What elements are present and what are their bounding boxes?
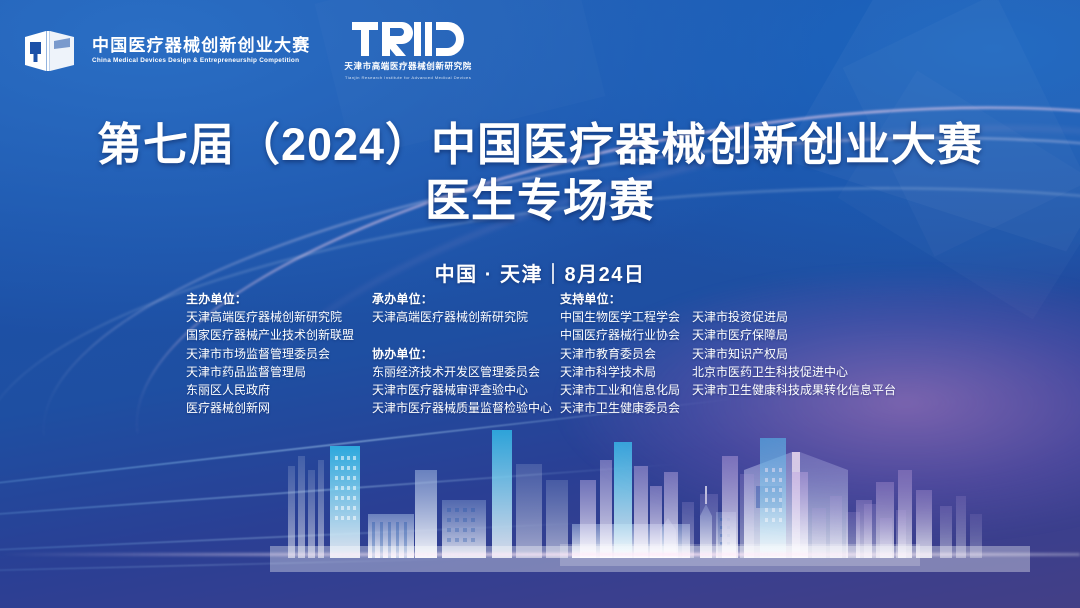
organizer-column: 主办单位： 天津高端医疗器械创新研究院 国家医疗器械产业技术创新联盟 天津市市场…	[186, 290, 372, 417]
organizer-group: 主办单位： 天津高端医疗器械创新研究院 国家医疗器械产业技术创新联盟 天津市市场…	[186, 290, 372, 417]
list-item: 中国医疗器械行业协会	[560, 326, 692, 344]
organizer-column: 天津市投资促进局 天津市医疗保障局 天津市知识产权局 北京市医药卫生科技促进中心…	[692, 290, 896, 417]
event-location-date: 中国 · 天津｜8月24日	[0, 258, 1080, 287]
organizer-list: 主办单位： 天津高端医疗器械创新研究院 国家医疗器械产业技术创新联盟 天津市市场…	[186, 290, 926, 417]
list-item: 天津市工业和信息化局	[560, 381, 692, 399]
list-item: 天津市医疗保障局	[692, 326, 896, 344]
list-item: 中国生物医学工程学会	[560, 308, 692, 326]
organizer-group-title: 支持单位：	[560, 290, 692, 308]
event-date: 8月24日	[564, 264, 645, 286]
open-door-book-mark-icon	[22, 27, 82, 75]
title-line-2: 医生专场赛	[0, 171, 1080, 230]
list-item: 天津市药品监督管理局	[186, 363, 372, 381]
list-item: 东丽区人民政府	[186, 381, 372, 399]
list-item: 天津市知识产权局	[692, 345, 896, 363]
list-item: 天津市投资促进局	[692, 308, 896, 326]
organizer-group-title: 协办单位：	[372, 345, 560, 363]
triid-wordmark-icon	[352, 22, 464, 56]
list-item: 天津市卫生健康委员会	[560, 399, 692, 417]
horizon-line	[0, 553, 1080, 556]
subtitle-separator: ｜	[543, 264, 565, 286]
poster-canvas: 中国医疗器械创新创业大赛 China Medical Devices Desig…	[0, 0, 1080, 608]
organizer-group-title: 承办单位：	[372, 290, 560, 308]
list-item: 国家医疗器械产业技术创新联盟	[186, 326, 372, 344]
list-item: 天津高端医疗器械创新研究院	[186, 308, 372, 326]
header-logos: 中国医疗器械创新创业大赛 China Medical Devices Desig…	[22, 22, 472, 80]
list-item: 天津市医疗器械审评查验中心	[372, 381, 560, 399]
institute-name-en: Tianjin Research Institute for Advanced …	[345, 75, 471, 80]
list-item: 天津市教育委员会	[560, 345, 692, 363]
column-spacer	[692, 290, 896, 308]
list-item: 北京市医药卫生科技促进中心	[692, 363, 896, 381]
organizer-group-title: 主办单位：	[186, 290, 372, 308]
city-skyline-right-cluster	[0, 408, 1080, 608]
institute-logo[interactable]: 天津市高端医疗器械创新研究院 Tianjin Research Institut…	[344, 22, 471, 80]
list-item: 天津市市场监督管理委员会	[186, 345, 372, 363]
light-streak	[0, 557, 480, 576]
list-item: 医疗器械创新网	[186, 399, 372, 417]
organizer-group: 承办单位： 天津高端医疗器械创新研究院	[372, 290, 560, 326]
competition-name-en: China Medical Devices Design & Entrepren…	[92, 58, 310, 64]
list-item: 天津市医疗器械质量监督检验中心	[372, 399, 560, 417]
event-location: 中国 · 天津	[435, 264, 543, 286]
title-line-1: 第七届（2024）中国医疗器械创新创业大赛	[0, 118, 1080, 171]
city-skyline-silhouette	[0, 408, 1080, 608]
institute-name-cn: 天津市高端医疗器械创新研究院	[344, 60, 471, 72]
organizer-group: 支持单位： 中国生物医学工程学会 中国医疗器械行业协会 天津市教育委员会 天津市…	[560, 290, 692, 417]
organizer-group: 天津市投资促进局 天津市医疗保障局 天津市知识产权局 北京市医药卫生科技促进中心…	[692, 290, 896, 399]
organizer-column: 支持单位： 中国生物医学工程学会 中国医疗器械行业协会 天津市教育委员会 天津市…	[560, 290, 692, 417]
list-item: 天津市科学技术局	[560, 363, 692, 381]
competition-name-cn: 中国医疗器械创新创业大赛	[92, 37, 310, 54]
page-title: 第七届（2024）中国医疗器械创新创业大赛 医生专场赛	[0, 118, 1080, 230]
list-item: 东丽经济技术开发区管理委员会	[372, 363, 560, 381]
organizer-column: 承办单位： 天津高端医疗器械创新研究院 协办单位： 东丽经济技术开发区管理委员会…	[372, 290, 560, 417]
list-item: 天津高端医疗器械创新研究院	[372, 308, 560, 326]
list-item: 天津市卫生健康科技成果转化信息平台	[692, 381, 896, 399]
organizer-group: 协办单位： 东丽经济技术开发区管理委员会 天津市医疗器械审评查验中心 天津市医疗…	[372, 345, 560, 418]
light-streak	[0, 463, 679, 531]
competition-logo[interactable]: 中国医疗器械创新创业大赛 China Medical Devices Desig…	[22, 27, 310, 75]
